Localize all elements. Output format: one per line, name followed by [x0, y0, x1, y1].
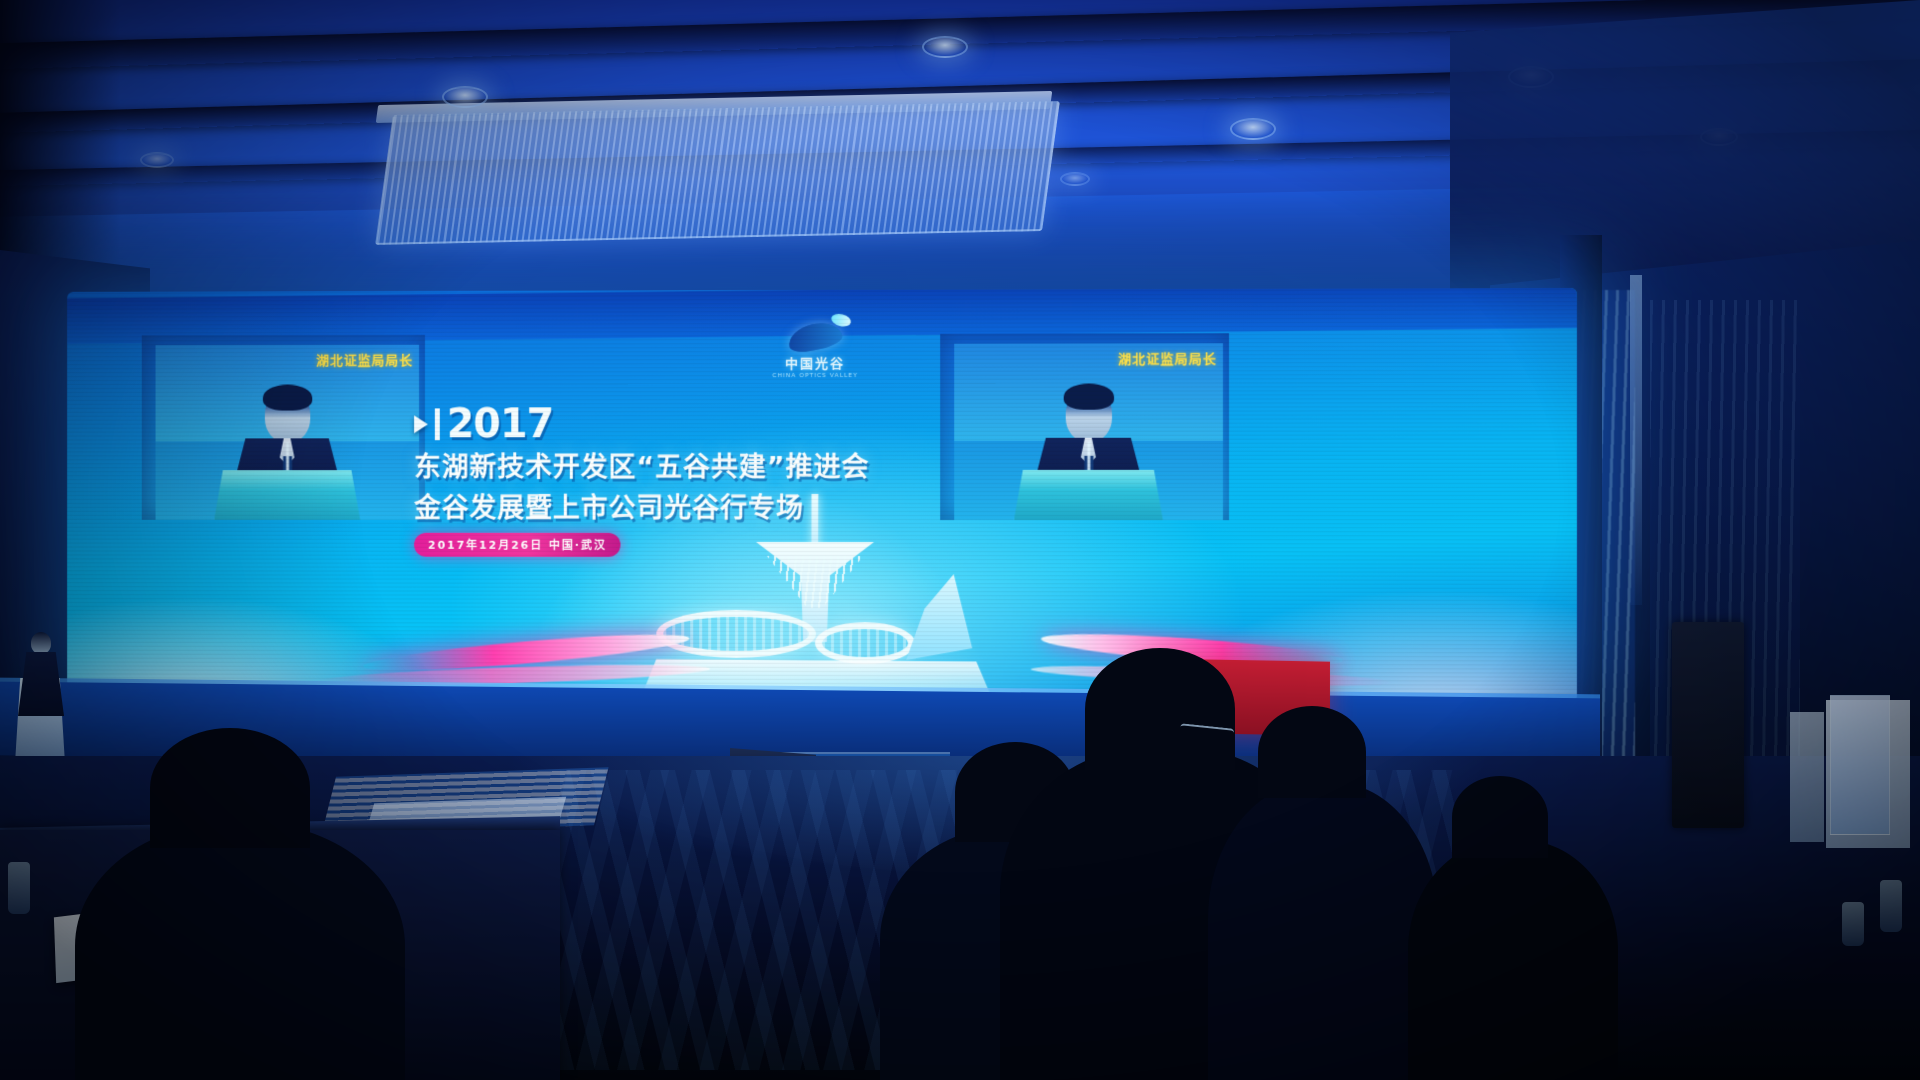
audience-head-far-right [1452, 776, 1548, 858]
audience-body [1208, 782, 1438, 1080]
podium [214, 470, 360, 520]
side-display-panel [1790, 712, 1824, 842]
tower-speaker [1672, 622, 1744, 828]
event-date-location-badge: 2017年12月26日 中国·武汉 [414, 533, 621, 557]
event-year-row: 2017 [414, 406, 942, 442]
logo-english-text: CHINA OPTICS VALLEY [755, 372, 875, 379]
speaker-hair [1063, 384, 1113, 410]
landmark-stadium-ring [815, 622, 915, 664]
landmark-fan-cables [767, 556, 863, 608]
event-title-line-1: 东湖新技术开发区“五谷共建”推进会 [414, 445, 942, 484]
side-monitor [1830, 695, 1890, 835]
china-optics-valley-logo: 中国光谷 CHINA OPTICS VALLEY [755, 324, 875, 379]
speaker-body [18, 652, 64, 716]
stage-speaker-silhouette [18, 632, 64, 718]
downlight-icon [1060, 172, 1090, 186]
water-bottle [1842, 902, 1864, 946]
video-panel-left: 湖北证监局局长 李秉恒 湖北证监局局长 [142, 335, 425, 520]
podium [1014, 470, 1163, 520]
lighting-truss [1630, 275, 1642, 605]
hvac-grille [375, 101, 1060, 245]
microphone-icon [286, 442, 289, 472]
audience-head-right [1258, 706, 1366, 798]
downlight-icon [442, 86, 488, 108]
play-triangle-icon [414, 415, 428, 433]
landmark-sail [906, 574, 972, 660]
water-bottle [8, 862, 30, 914]
title-bar-divider [435, 408, 440, 440]
downlight-icon [1230, 118, 1276, 140]
logo-chinese-text: 中国光谷 [755, 353, 875, 372]
speaker-hair [262, 385, 311, 411]
speaker-head [31, 632, 51, 654]
video-overlay-label-left: 湖北证监局局长 [316, 350, 413, 369]
landmark-stadium-ring [656, 610, 816, 658]
optics-valley-swoosh-icon [786, 319, 844, 356]
audience-body [1408, 840, 1618, 1080]
audience-head-center-right [1085, 648, 1235, 770]
water-bottle [1880, 880, 1902, 932]
video-overlay-label-right: 湖北证监局局长 [1118, 348, 1217, 367]
audience-head-left [150, 728, 310, 848]
microphone-icon [1087, 442, 1090, 472]
speaker-head [264, 389, 309, 443]
speaker-head [1065, 388, 1111, 442]
video-feed-right: 湖北证监局局长 [954, 343, 1223, 520]
audience-body [75, 822, 405, 1080]
optics-valley-landmark-icon [650, 494, 980, 694]
video-feed-left: 湖北证监局局长 [156, 345, 419, 520]
downlight-icon [922, 36, 968, 58]
led-stage-screen: 中国光谷 CHINA OPTICS VALLEY 湖北证监局局长 [67, 288, 1577, 702]
video-panel-right: 湖北证监局局长 李秉恒 湖北证监局局长 [940, 333, 1229, 520]
event-year: 2017 [447, 406, 553, 442]
downlight-icon [140, 152, 174, 168]
conference-hall-photo: 中国光谷 CHINA OPTICS VALLEY 湖北证监局局长 [0, 0, 1920, 1080]
